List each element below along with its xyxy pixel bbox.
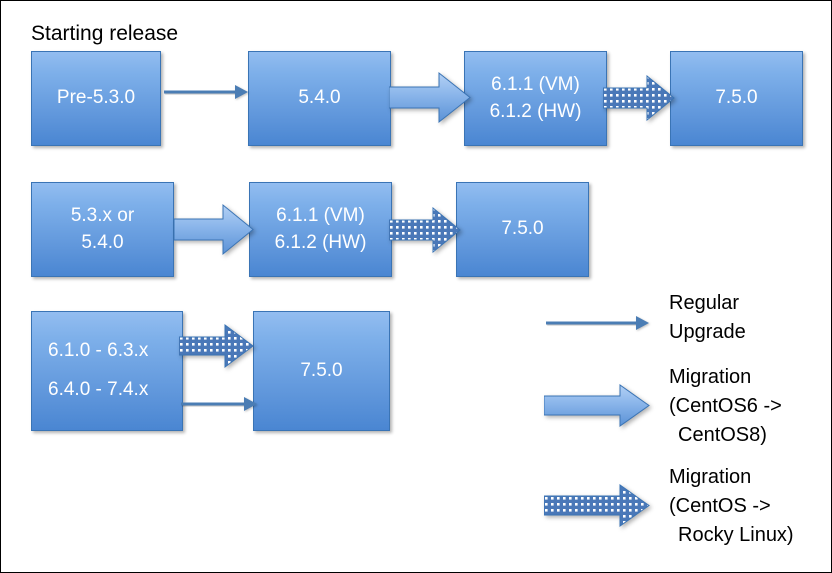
legend-line: (CentOS6 -> — [669, 392, 782, 421]
box-line: 6.1.2 (HW) — [490, 99, 582, 126]
box-5-4-0[interactable]: 5.4.0 — [248, 51, 391, 146]
box-7-5-0-row1[interactable]: 7.5.0 — [670, 51, 803, 146]
legend-thin-arrow-icon — [546, 314, 649, 332]
legend-line: Upgrade — [669, 318, 746, 347]
legend-line: Regular — [669, 289, 746, 318]
legend-line: CentOS8) — [669, 421, 782, 450]
connector-regular-upgrade — [181, 395, 257, 413]
box-7-5-0-row2[interactable]: 7.5.0 — [456, 182, 589, 277]
box-line: 7.5.0 — [501, 216, 543, 243]
box-line: Pre-5.3.0 — [57, 85, 135, 112]
box-line: 7.5.0 — [715, 85, 757, 112]
box-line: 6.1.1 (VM) — [491, 72, 580, 99]
starting-release-caption: Starting release — [31, 23, 178, 44]
diagram-canvas: Starting release Pre-5.3.0 5.4.0 6.1.1 (… — [0, 0, 832, 573]
arrow-head-icon — [244, 397, 257, 411]
arrow-head-icon — [636, 316, 649, 330]
box-5-3-x-or-5-4-0[interactable]: 5.3.x or 5.4.0 — [31, 182, 174, 277]
box-6-1-1-vm-6-1-2-hw[interactable]: 6.1.1 (VM) 6.1.2 (HW) — [249, 182, 392, 277]
box-line: 6.1.1 (VM) — [276, 203, 365, 230]
connector-migration-centos6-centos8 — [389, 71, 471, 124]
box-line: 6.1.0 - 6.3.x — [48, 338, 148, 365]
box-6-1-0-6-3-x-and-6-4-0-7-4-x[interactable]: 6.1.0 - 6.3.x 6.4.0 - 7.4.x — [31, 311, 183, 431]
legend-label-migration-rocky: Migration (CentOS -> Rocky Linux) — [669, 463, 794, 550]
legend-label-regular-upgrade: Regular Upgrade — [669, 289, 746, 347]
connector-migration-centos-rocky — [389, 207, 461, 253]
legend-block-arrow-icon — [544, 384, 650, 427]
box-line: 5.4.0 — [81, 230, 123, 257]
legend-label-migration-centos8: Migration (CentOS6 -> CentOS8) — [669, 363, 782, 450]
arrow-shaft — [546, 322, 637, 325]
connector-migration-centos-rocky — [179, 324, 254, 368]
box-line: 5.4.0 — [298, 85, 340, 112]
arrow-shaft — [181, 403, 245, 406]
box-line: 5.3.x or — [71, 203, 134, 230]
legend-line: Migration — [669, 363, 782, 392]
arrow-head-icon — [235, 85, 248, 99]
box-line: 6.4.0 - 7.4.x — [48, 377, 148, 404]
box-line: 6.1.2 (HW) — [275, 230, 367, 257]
legend-line: Rocky Linux) — [669, 521, 794, 550]
legend-line: Migration — [669, 463, 794, 492]
arrow-shaft — [164, 91, 236, 94]
box-6-1-1-vm-6-1-2-hw[interactable]: 6.1.1 (VM) 6.1.2 (HW) — [464, 51, 607, 146]
box-7-5-0-row3[interactable]: 7.5.0 — [253, 311, 390, 431]
box-pre-5-3-0[interactable]: Pre-5.3.0 — [31, 51, 161, 146]
box-line: 7.5.0 — [300, 358, 342, 385]
legend-line: (CentOS -> — [669, 492, 794, 521]
connector-migration-centos6-centos8 — [174, 203, 254, 256]
connector-migration-centos-rocky — [603, 75, 675, 121]
connector-regular-upgrade — [164, 83, 248, 101]
legend-dotted-arrow-icon — [544, 484, 650, 527]
